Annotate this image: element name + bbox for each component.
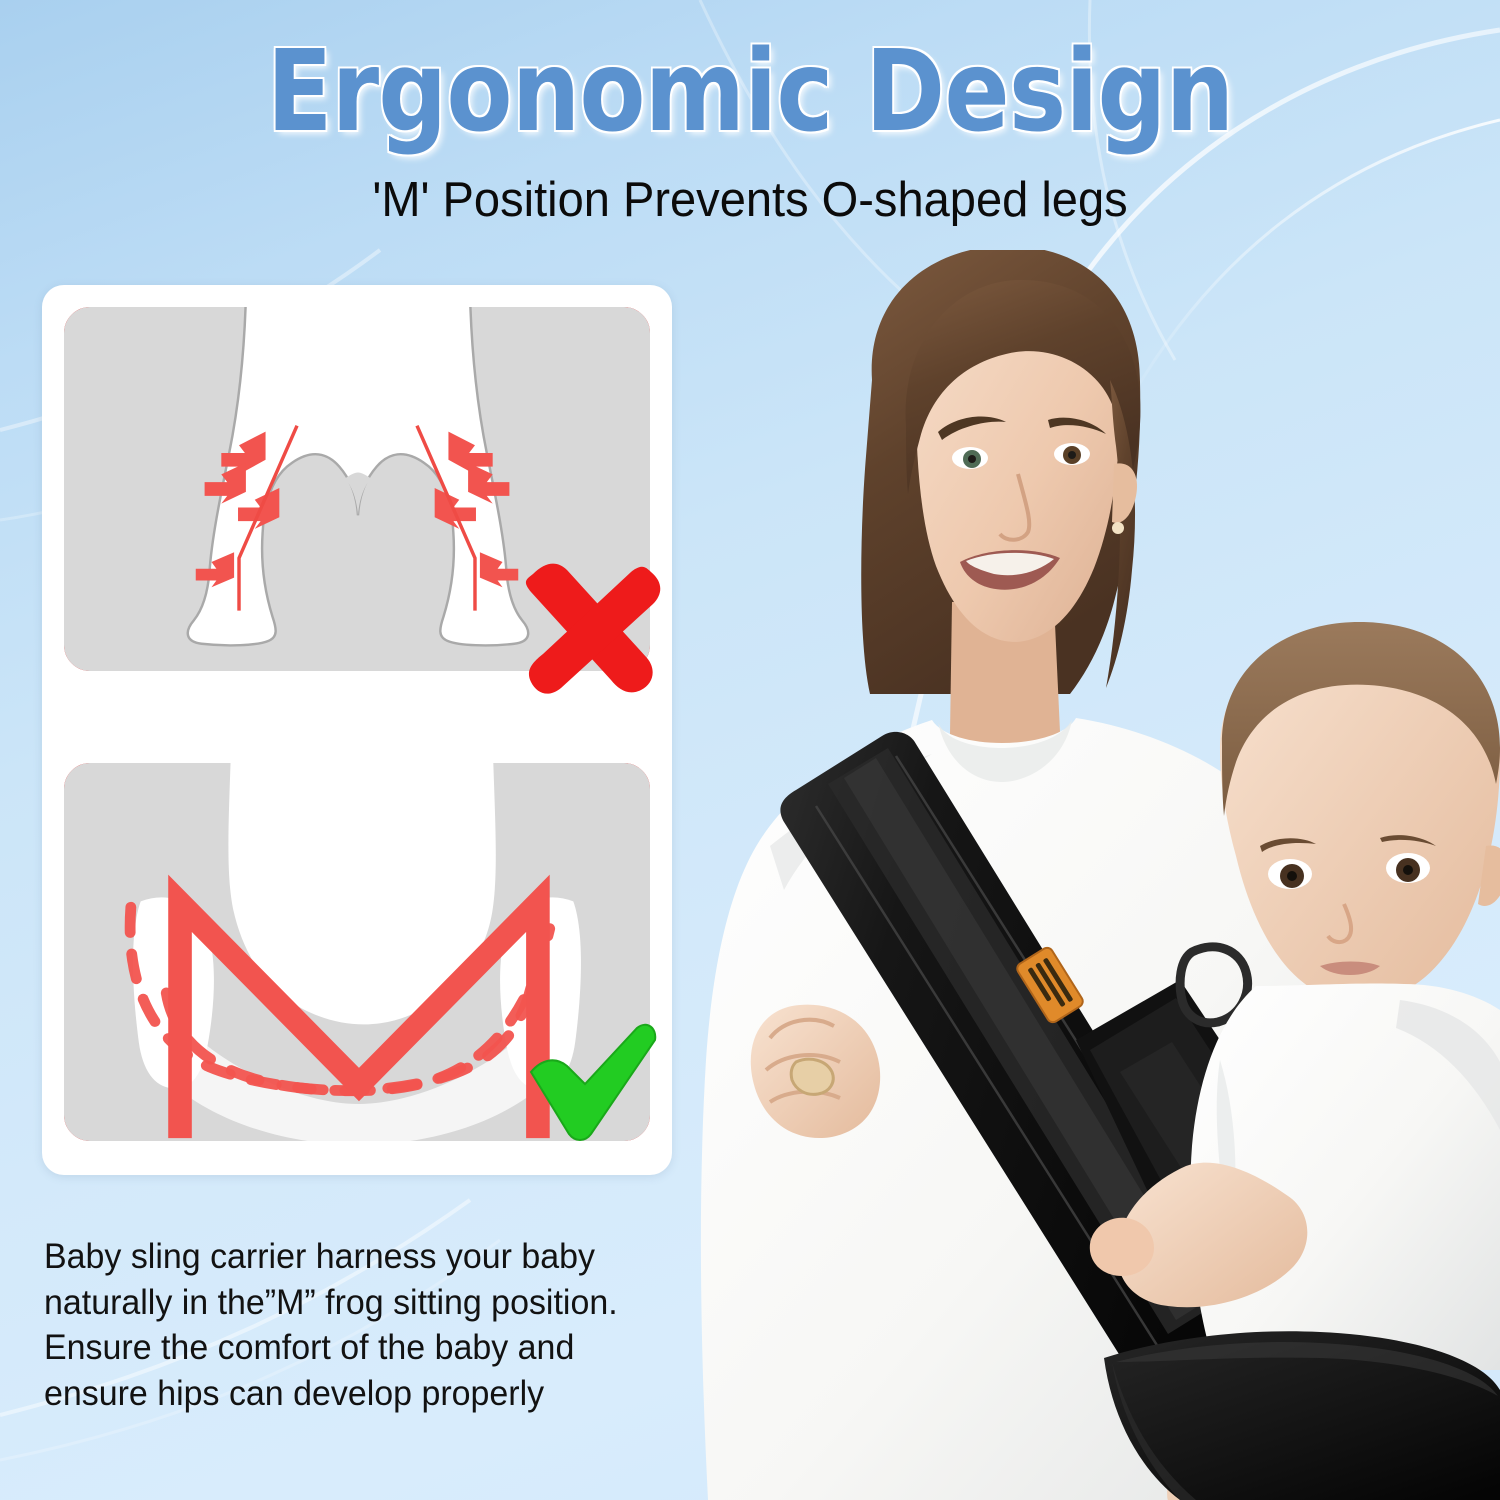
- panel-correct-m-position: [64, 763, 650, 1141]
- description-text: Baby sling carrier harness your baby nat…: [44, 1234, 665, 1416]
- header: Ergonomic Design 'M' Position Prevents O…: [0, 0, 1500, 228]
- product-photo-mother-and-baby: [620, 250, 1500, 1500]
- page-title: Ergonomic Design: [105, 36, 1395, 148]
- red-cross-icon: [517, 552, 667, 702]
- page-subtitle: 'M' Position Prevents O-shaped legs: [30, 172, 1470, 228]
- panel-incorrect-o-shape: [64, 307, 650, 671]
- diagram-card: [42, 285, 672, 1175]
- green-check-icon: [527, 1026, 659, 1146]
